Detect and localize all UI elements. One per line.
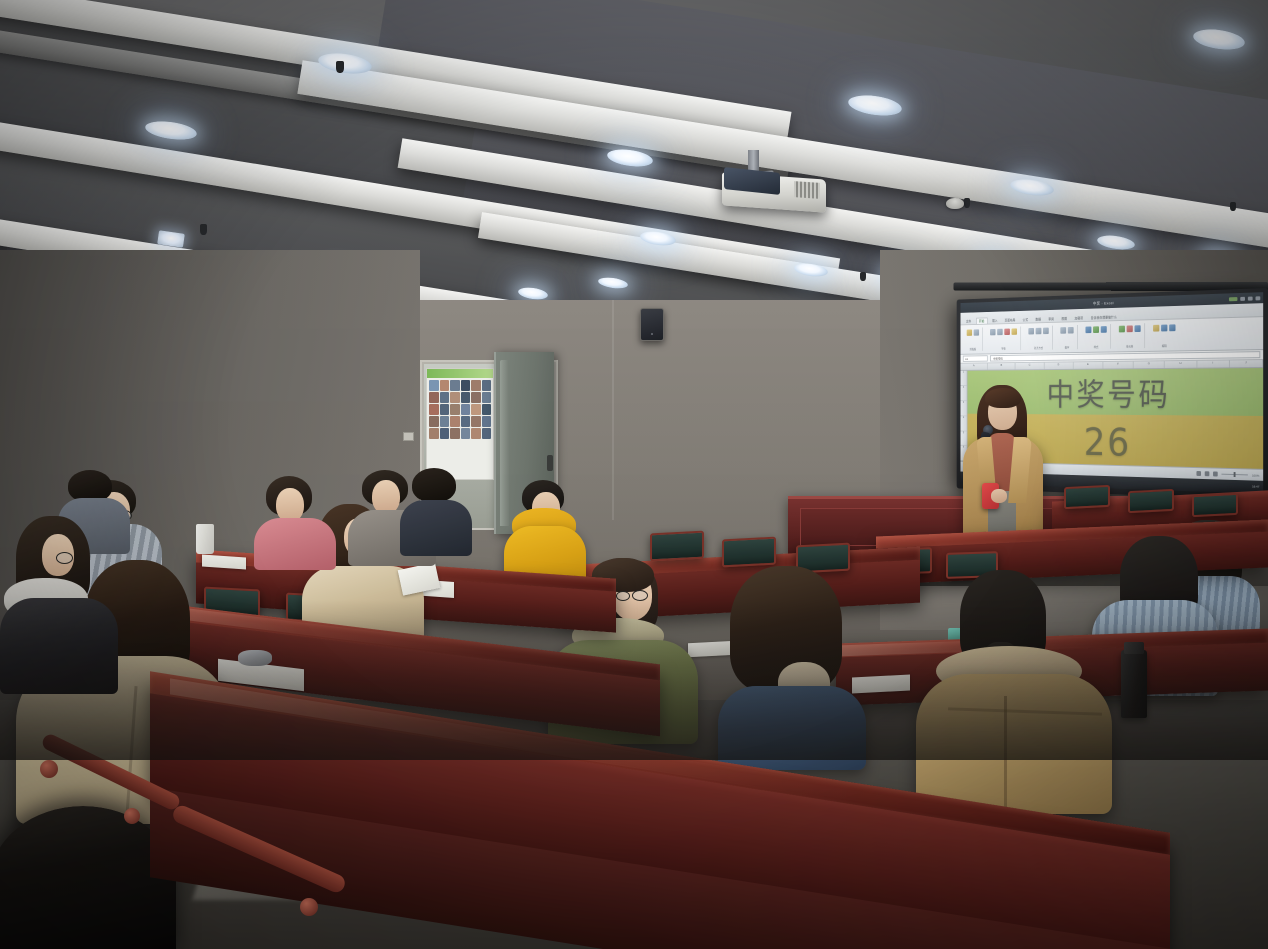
percent-icon[interactable] — [1060, 327, 1066, 334]
group-label-cells: 单元格 — [1126, 345, 1133, 349]
chair[interactable] — [1128, 489, 1174, 513]
col-I[interactable]: I — [1197, 360, 1230, 368]
font-icons[interactable] — [990, 326, 1017, 335]
attendee-pink-top — [250, 476, 338, 562]
table-format-icon[interactable] — [1093, 326, 1099, 333]
tab-layout[interactable]: 页面布局 — [1002, 317, 1018, 323]
page-layout-view-icon[interactable] — [1205, 471, 1210, 476]
lottery-number-text: 26 — [1084, 421, 1131, 465]
poster-photo-grid — [427, 378, 493, 441]
alignment-icons[interactable] — [1028, 325, 1048, 334]
tab-formulas[interactable]: 公式 — [1020, 317, 1030, 323]
col-A[interactable]: A — [961, 363, 988, 370]
door-handle[interactable] — [547, 455, 553, 471]
col-G[interactable]: G — [1134, 361, 1165, 368]
sort-filter-icon[interactable] — [1161, 324, 1167, 331]
projector-vent — [794, 181, 820, 199]
lottery-title-text: 中奖号码 — [1047, 369, 1171, 415]
excel-title-text: 中奖 - Excel — [1093, 300, 1114, 306]
ribbon-group-alignment[interactable]: 对齐方式 — [1025, 325, 1053, 350]
zoom-slider[interactable] — [1222, 474, 1248, 476]
photo-board-poster — [426, 368, 494, 480]
col-J[interactable]: J — [1230, 360, 1263, 368]
chair[interactable] — [722, 537, 776, 568]
group-label-font: 字体 — [1001, 347, 1005, 351]
autosum-icon[interactable] — [1153, 324, 1159, 331]
group-label-number: 数字 — [1065, 346, 1070, 350]
sprinkler-head — [964, 198, 970, 208]
group-label-clipboard: 剪贴板 — [970, 348, 977, 352]
tab-review[interactable]: 审阅 — [1046, 316, 1057, 322]
lighting-falloff — [0, 600, 1268, 760]
attendee-head — [276, 488, 304, 522]
merge-cells-icon[interactable] — [1043, 327, 1049, 334]
group-label-alignment: 对齐方式 — [1034, 346, 1043, 350]
chair-knob — [300, 898, 318, 916]
wall-corner — [612, 300, 614, 520]
cut-icon[interactable] — [974, 329, 979, 335]
styles-icons[interactable] — [1085, 324, 1106, 333]
tab-view[interactable]: 视图 — [1059, 316, 1070, 322]
attendee-hair — [412, 468, 456, 502]
presenter-hair-front — [985, 388, 1021, 408]
clipboard-icons[interactable] — [967, 327, 979, 335]
col-C[interactable]: C — [1016, 363, 1045, 370]
col-B[interactable]: B — [988, 363, 1016, 370]
poster-header — [427, 369, 493, 378]
number-icons[interactable] — [1060, 325, 1073, 334]
white-paper-cup[interactable] — [196, 524, 214, 554]
chair-knob — [124, 808, 140, 824]
italic-icon[interactable] — [997, 328, 1003, 334]
tab-tellme[interactable]: 告诉我你想要做什么 — [1088, 314, 1119, 321]
align-center-icon[interactable] — [1036, 327, 1042, 334]
ribbon-group-editing[interactable]: 编辑 — [1150, 322, 1180, 348]
fill-color-icon[interactable] — [1011, 328, 1017, 335]
sprinkler-head — [860, 272, 866, 281]
taskbar-clock: 16:47 — [1252, 485, 1259, 489]
group-label-styles: 样式 — [1094, 345, 1099, 349]
attendee-dark-backleft — [400, 468, 474, 554]
font-color-icon[interactable] — [1004, 328, 1010, 334]
wall-speaker-icon — [640, 308, 664, 341]
signin-button[interactable] — [1229, 297, 1237, 301]
ribbon-group-cells[interactable]: 单元格 — [1115, 323, 1145, 349]
tab-home[interactable]: 开始 — [976, 317, 988, 324]
ribbon-group-clipboard[interactable]: 剪贴板 — [964, 327, 983, 351]
paste-icon[interactable] — [967, 329, 972, 335]
attendee-head — [372, 480, 400, 514]
editing-icons[interactable] — [1153, 322, 1175, 331]
zoom-slider-thumb[interactable] — [1234, 472, 1236, 477]
col-E[interactable]: E — [1073, 362, 1103, 369]
presenter-hand — [991, 489, 1007, 503]
format-cells-icon[interactable] — [1135, 325, 1141, 332]
window-buttons[interactable] — [1229, 296, 1260, 301]
col-F[interactable]: F — [1103, 362, 1134, 369]
normal-view-icon[interactable] — [1197, 471, 1202, 476]
ribbon-group-number[interactable]: 数字 — [1057, 325, 1078, 350]
tab-data[interactable]: 数据 — [1033, 316, 1043, 322]
ceiling-light — [1192, 26, 1246, 52]
tab-file[interactable]: 文件 — [964, 318, 974, 324]
chair[interactable] — [1064, 485, 1110, 509]
chair[interactable] — [1192, 493, 1238, 517]
smoke-detector-icon — [946, 198, 964, 209]
page-break-view-icon[interactable] — [1213, 472, 1218, 477]
attendee-torso — [254, 518, 336, 570]
find-select-icon[interactable] — [1169, 324, 1175, 331]
maximize-icon[interactable] — [1248, 296, 1253, 300]
conditional-format-icon[interactable] — [1085, 326, 1091, 333]
tab-addins[interactable]: 加载项 — [1072, 315, 1086, 321]
sprinkler-head — [200, 224, 207, 235]
sprinkler-head — [1230, 202, 1236, 211]
sprinkler-head — [336, 61, 344, 73]
bold-icon[interactable] — [990, 329, 996, 335]
group-label-editing: 编辑 — [1162, 344, 1167, 348]
ribbon-group-styles[interactable]: 样式 — [1082, 324, 1111, 350]
insert-cells-icon[interactable] — [1119, 325, 1125, 332]
ribbon-group-font[interactable]: 字体 — [987, 326, 1021, 351]
minimize-icon[interactable] — [1240, 297, 1245, 301]
close-icon[interactable] — [1255, 296, 1260, 300]
delete-cells-icon[interactable] — [1127, 325, 1133, 332]
classroom-photo: 中奖 - Excel 文件 开始 插入 页面布局 公式 数据 — [0, 0, 1268, 949]
name-box[interactable]: A1 — [963, 356, 988, 362]
zoom-level-label: 100% — [1252, 473, 1259, 477]
light-switch[interactable] — [403, 432, 414, 441]
tab-insert[interactable]: 插入 — [990, 318, 1000, 324]
comma-icon[interactable] — [1068, 327, 1074, 334]
col-H[interactable]: H — [1165, 361, 1197, 368]
align-left-icon[interactable] — [1028, 328, 1034, 335]
cell-styles-icon[interactable] — [1101, 326, 1107, 333]
cells-icons[interactable] — [1119, 323, 1141, 332]
row-1[interactable]: 1 — [961, 371, 967, 386]
glasses-icon — [56, 552, 73, 564]
chair-knob — [40, 760, 58, 778]
col-D[interactable]: D — [1044, 362, 1073, 369]
attendee-torso — [400, 500, 472, 556]
